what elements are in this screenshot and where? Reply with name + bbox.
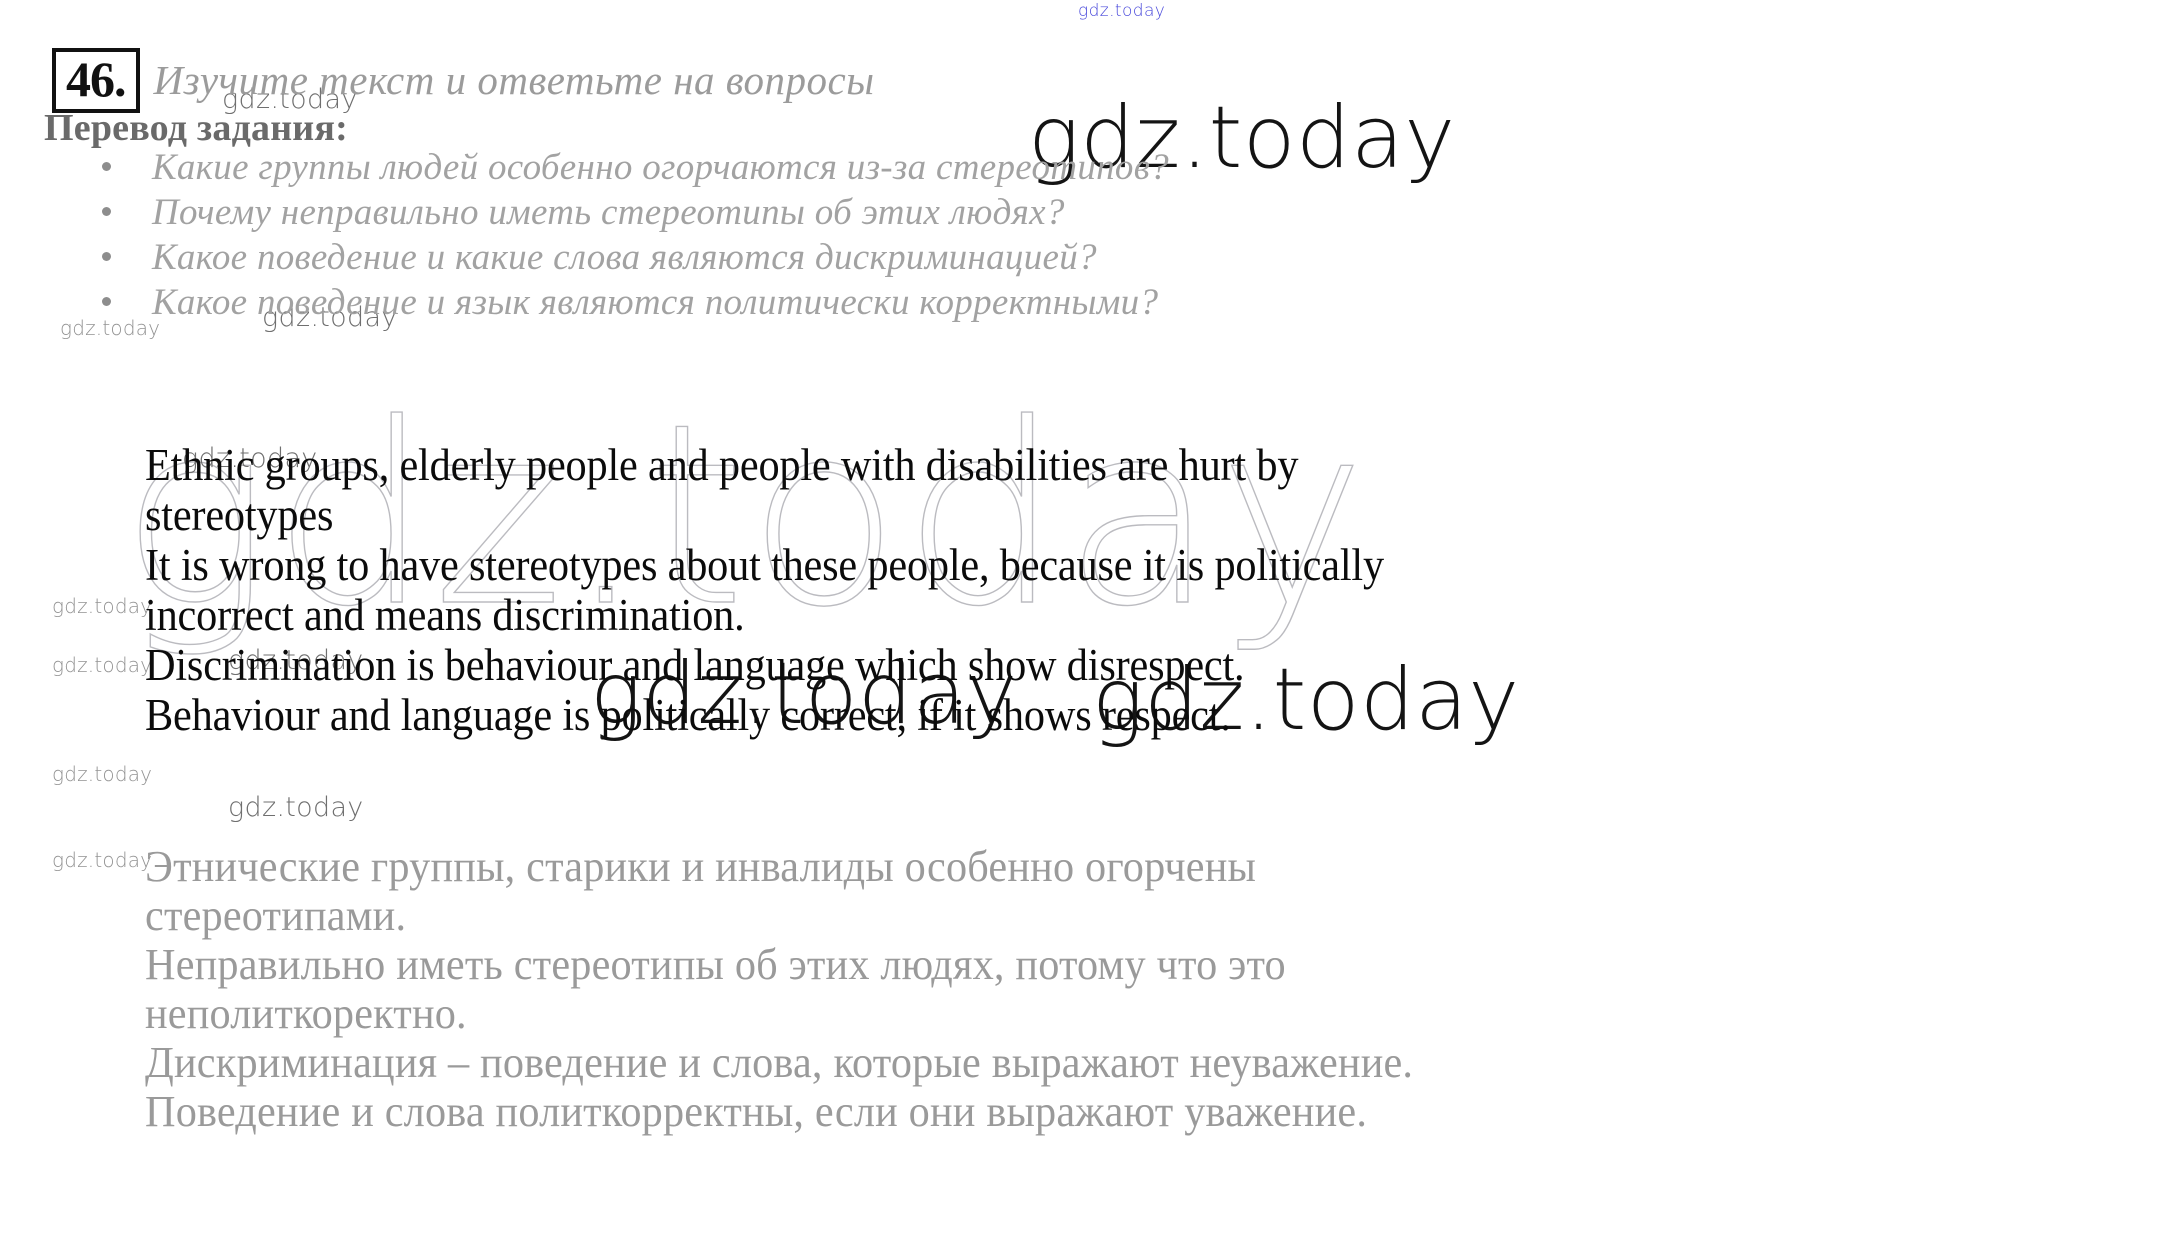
english-answer-line: Discrimination is behaviour and language…: [145, 640, 1931, 690]
question-list: Какие группы людей особенно огорчаются и…: [96, 148, 1796, 328]
translation-label: Перевод задания:: [44, 106, 348, 150]
bullet-icon: [102, 297, 111, 306]
russian-answer-line: Этнические группы, старики и инвалиды ос…: [145, 842, 1969, 891]
question-item: Какое поведение и язык являются политиче…: [96, 283, 1796, 323]
bullet-icon: [102, 207, 111, 216]
russian-answer-block: Этнические группы, старики и инвалиды ос…: [145, 842, 2045, 1136]
russian-answer-line: неполиткоректно.: [145, 989, 1969, 1038]
english-answer-line: incorrect and means discrimination.: [145, 590, 1931, 640]
russian-answer-line: Поведение и слова политкорректны, если о…: [145, 1087, 1969, 1136]
russian-answer-line: Неправильно иметь стереотипы об этих люд…: [145, 940, 1969, 989]
russian-answer-line: Дискриминация – поведение и слова, котор…: [145, 1038, 1969, 1087]
english-answer-line: Ethnic groups, elderly people and people…: [145, 440, 1931, 490]
exercise-header: 46. Изучите текст и ответьте на вопросы: [52, 48, 875, 113]
exercise-content: 46. Изучите текст и ответьте на вопросы …: [0, 0, 2157, 1256]
question-text: Какое поведение и язык являются политиче…: [152, 282, 1158, 323]
question-text: Какое поведение и какие слова являются д…: [152, 237, 1097, 278]
english-answer-line: stereotypes: [145, 490, 1931, 540]
russian-answer-line: стереотипами.: [145, 891, 1969, 940]
question-text: Почему неправильно иметь стереотипы об э…: [152, 192, 1065, 233]
page-canvas: gdz.todaygdz.todaygdz.todaygdz.todaygdz.…: [0, 0, 2157, 1256]
exercise-title: Изучите текст и ответьте на вопросы: [154, 56, 875, 104]
bullet-icon: [102, 252, 111, 261]
question-item: Какое поведение и какие слова являются д…: [96, 238, 1796, 278]
english-answer-line: Behaviour and language is politically co…: [145, 690, 1931, 740]
bullet-icon: [102, 162, 111, 171]
exercise-number: 46.: [52, 48, 140, 113]
question-text: Какие группы людей особенно огорчаются и…: [152, 147, 1169, 188]
english-answer-block: Ethnic groups, elderly people and people…: [145, 440, 2045, 740]
english-answer-line: It is wrong to have stereotypes about th…: [145, 540, 1931, 590]
question-item: Почему неправильно иметь стереотипы об э…: [96, 193, 1796, 233]
question-item: Какие группы людей особенно огорчаются и…: [96, 148, 1796, 188]
